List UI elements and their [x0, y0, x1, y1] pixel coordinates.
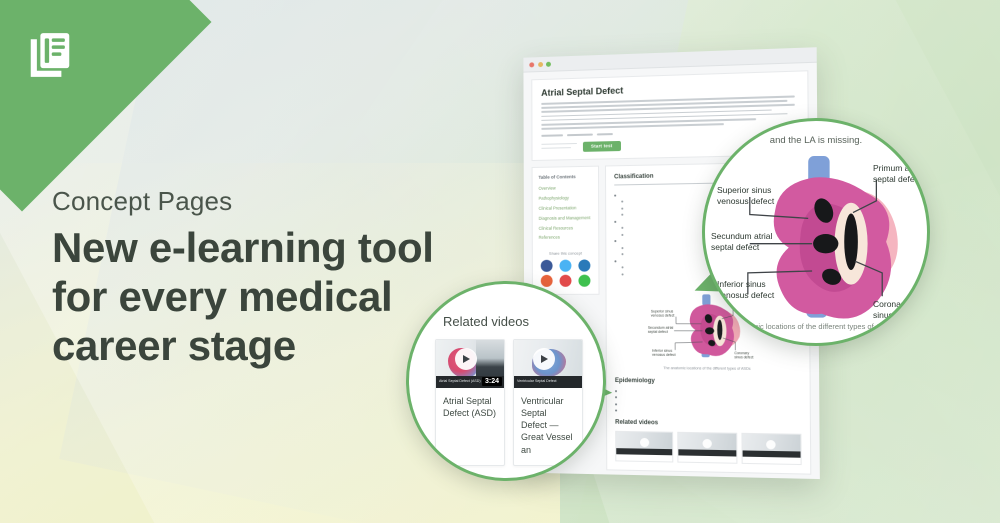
video-card-title: Atrial Septal Defect (ASD) — [436, 388, 504, 428]
list-item — [615, 401, 801, 407]
page-title: Atrial Septal Defect — [541, 80, 798, 98]
linkedin-icon[interactable] — [578, 259, 590, 271]
last-updated-text — [541, 134, 563, 137]
video-card[interactable]: Ventricular Septal Defect Ventricular Se… — [513, 339, 583, 466]
svg-text:sinus defect: sinus defect — [734, 355, 753, 359]
play-icon[interactable] — [533, 348, 555, 370]
start-test-button[interactable]: Start test — [583, 141, 621, 152]
related-videos-heading: Related videos — [443, 314, 583, 329]
facebook-icon[interactable] — [541, 260, 553, 272]
hero-headline-line-1: New e-learning tool — [52, 223, 472, 272]
magnifier-related-videos: Related videos Atrial Septal Defect (ASD… — [406, 281, 606, 481]
label-secundum-atrial-septal: Secundum atrial septal defect — [711, 231, 795, 252]
maximize-icon[interactable] — [546, 61, 551, 66]
svg-text:Superior sinus: Superior sinus — [651, 309, 674, 313]
magnifier-bottom-caption: natomic locations of the different types… — [705, 322, 927, 331]
label-coronary-sinus: Coronary sinus defect — [873, 299, 929, 320]
video-card[interactable] — [615, 431, 673, 463]
section-title-epidemiology: Epidemiology — [615, 378, 801, 386]
video-card[interactable]: Atrial Septal Defect (ASD) 3:24 Atrial S… — [435, 339, 505, 466]
section-title-related-videos: Related videos — [615, 420, 801, 429]
related-videos-section: Related videos — [615, 420, 802, 465]
cta-meta-line — [541, 143, 577, 145]
share-label: Share this concept — [539, 250, 593, 255]
epidemiology-section: Epidemiology — [615, 378, 801, 415]
close-icon[interactable] — [529, 62, 534, 67]
figure-caption: The anatomic locations of the different … — [615, 366, 801, 371]
play-icon[interactable] — [455, 348, 477, 370]
list-item — [615, 395, 801, 401]
video-thumbnail[interactable]: Ventricular Septal Defect — [514, 340, 582, 388]
video-card[interactable] — [678, 432, 738, 464]
toc-item-pathophysiology[interactable]: Pathophysiology — [539, 195, 593, 201]
related-videos-row — [615, 431, 802, 465]
label-superior-sinus-venosus: Superior sinus venosus defect — [717, 185, 797, 206]
cta-meta-line — [541, 147, 571, 149]
share-section: Share this concept — [539, 250, 593, 287]
date-text — [567, 133, 593, 136]
magnifier-heart-diagram: and the LA is missing. Superior sinus ve… — [702, 118, 930, 346]
video-card[interactable] — [741, 433, 802, 465]
svg-text:venosus defect: venosus defect — [652, 353, 676, 357]
twitter-icon[interactable] — [559, 260, 571, 272]
cta-meta — [541, 143, 577, 152]
list-item — [615, 408, 801, 415]
toc-title: Table of Contents — [538, 174, 592, 180]
video-duration-badge: 3:24 — [482, 377, 502, 386]
magnifier-videos-content: Related videos Atrial Septal Defect (ASD… — [409, 284, 603, 478]
label-inferior-sinus-venosus: Inferior sinus venosus defect — [717, 279, 797, 300]
video-card-title: Ventricular Septal Defect — Great Vessel… — [514, 388, 582, 465]
label-primum-atrial-septal: Primum atrial septal defect — [873, 163, 930, 184]
toc-item-clinical-resources[interactable]: Clinical Resources — [539, 225, 593, 231]
toc-item-overview[interactable]: Overview — [539, 185, 593, 191]
read-time-text — [597, 133, 613, 135]
list-item — [615, 388, 801, 394]
hero-eyebrow: Concept Pages — [52, 186, 472, 217]
related-videos-card-list: Atrial Septal Defect (ASD) 3:24 Atrial S… — [435, 339, 583, 466]
share-icon-grid — [539, 259, 593, 286]
svg-text:septal defect: septal defect — [648, 330, 668, 334]
pages-document-icon — [22, 27, 78, 83]
toc-item-diagnosis-management[interactable]: Diagnosis and Management — [539, 215, 593, 221]
video-strip-text: Atrial Septal Defect (ASD) — [439, 379, 481, 383]
video-strip-text: Ventricular Septal Defect — [517, 379, 557, 383]
video-thumbnail[interactable]: Atrial Septal Defect (ASD) 3:24 — [436, 340, 504, 388]
video-title-strip: Ventricular Septal Defect — [514, 376, 582, 388]
toc-item-clinical-presentation[interactable]: Clinical Presentation — [539, 205, 593, 211]
minimize-icon[interactable] — [538, 62, 543, 67]
toc-item-references[interactable]: References — [539, 235, 593, 241]
svg-text:venosus defect: venosus defect — [651, 313, 675, 317]
table-of-contents: Table of Contents Overview Pathophysiolo… — [532, 165, 600, 295]
